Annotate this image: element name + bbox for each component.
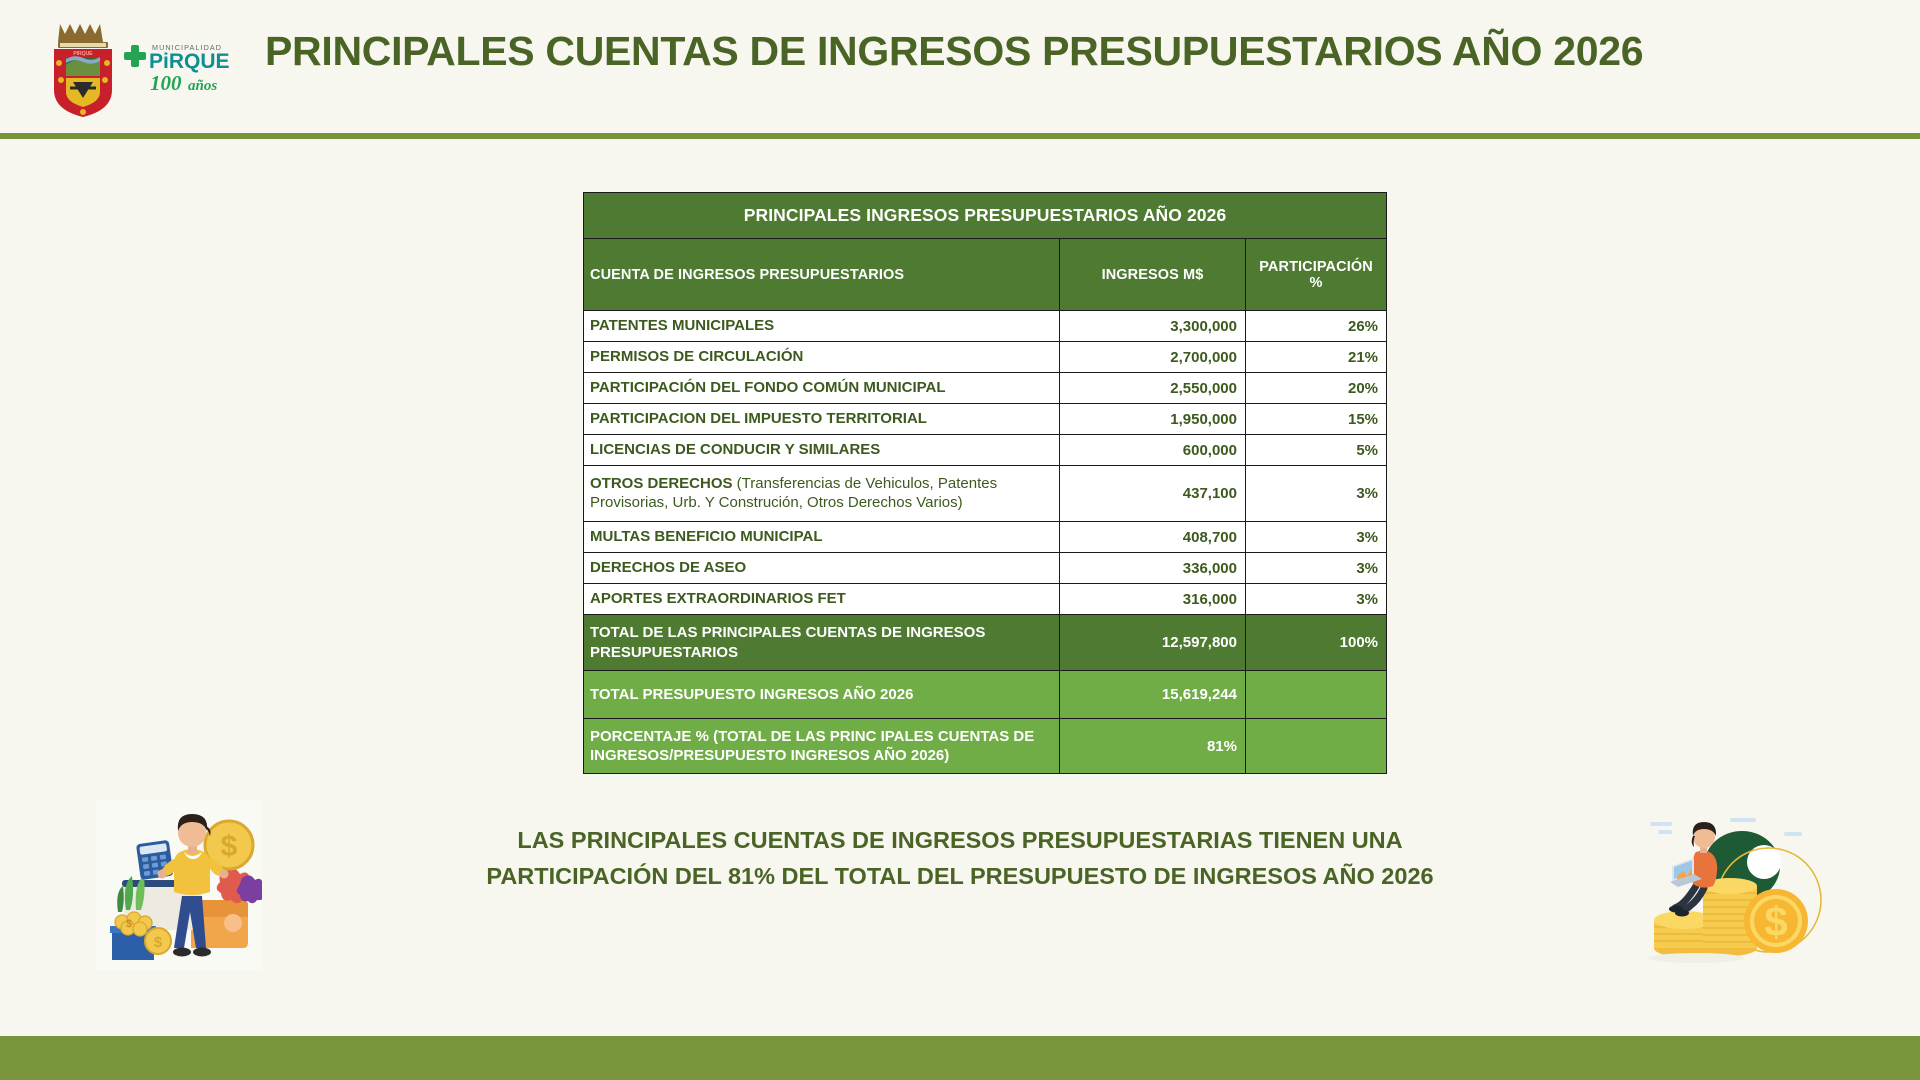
total-principales-name: TOTAL DE LAS PRINCIPALES CUENTAS DE INGR… xyxy=(584,615,1060,671)
row-name: MULTAS BENEFICIO MUNICIPAL xyxy=(584,522,1060,553)
row-participacion: 21% xyxy=(1246,342,1387,373)
row-ingresos: 2,700,000 xyxy=(1060,342,1246,373)
page-title: PRINCIPALES CUENTAS DE INGRESOS PRESUPUE… xyxy=(265,28,1865,75)
table-row: PERMISOS DE CIRCULACIÓN 2,700,000 21% xyxy=(584,342,1387,373)
row-participacion: 3% xyxy=(1246,466,1387,522)
table-row-total-presupuesto: TOTAL PRESUPUESTO INGRESOS AÑO 2026 15,6… xyxy=(584,671,1387,719)
row-name: OTROS DERECHOS (Transferencias de Vehicu… xyxy=(584,466,1060,522)
row-name: APORTES EXTRAORDINARIOS FET xyxy=(584,584,1060,615)
table-title: PRINCIPALES INGRESOS PRESUPUESTARIOS AÑO… xyxy=(584,193,1387,239)
row-participacion: 3% xyxy=(1246,553,1387,584)
svg-text:PiRQUE: PiRQUE xyxy=(149,50,230,73)
row-participacion: 3% xyxy=(1246,522,1387,553)
footer-bar xyxy=(0,1036,1920,1080)
row-name: PARTICIPACION DEL IMPUESTO TERRITORIAL xyxy=(584,404,1060,435)
row-ingresos: 316,000 xyxy=(1060,584,1246,615)
column-header-participacion-line1: PARTICIPACIÓN xyxy=(1250,259,1382,275)
row-participacion: 20% xyxy=(1246,373,1387,404)
porcentaje-name: PORCENTAJE % (TOTAL DE LAS PRINC IPALES … xyxy=(584,719,1060,774)
row-participacion: 3% xyxy=(1246,584,1387,615)
total-presupuesto-ingresos: 15,619,244 xyxy=(1060,671,1246,719)
table-row-total-principales: TOTAL DE LAS PRINCIPALES CUENTAS DE INGR… xyxy=(584,615,1387,671)
municipality-logo: PIRQUE MUNICIPALIDAD PiRQUE 100 años xyxy=(22,8,237,118)
row-name: PARTICIPACIÓN DEL FONDO COMÚN MUNICIPAL xyxy=(584,373,1060,404)
column-header-participacion: PARTICIPACIÓN % xyxy=(1246,239,1387,311)
table-row: PARTICIPACIÓN DEL FONDO COMÚN MUNICIPAL … xyxy=(584,373,1387,404)
table-row-porcentaje: PORCENTAJE % (TOTAL DE LAS PRINC IPALES … xyxy=(584,719,1387,774)
budget-table-container: PRINCIPALES INGRESOS PRESUPUESTARIOS AÑO… xyxy=(583,192,1386,774)
row-name: PATENTES MUNICIPALES xyxy=(584,311,1060,342)
total-presupuesto-participacion xyxy=(1246,671,1387,719)
svg-text:PIRQUE: PIRQUE xyxy=(73,51,93,57)
row-participacion: 26% xyxy=(1246,311,1387,342)
row-ingresos: 336,000 xyxy=(1060,553,1246,584)
table-row: APORTES EXTRAORDINARIOS FET 316,000 3% xyxy=(584,584,1387,615)
porcentaje-valor: 81% xyxy=(1060,719,1246,774)
header-divider xyxy=(0,133,1920,139)
person-on-coin-stacks-with-laptop-illustration: $ xyxy=(1634,808,1830,970)
person-with-calculator-coins-wallet-illustration: $ $ $ xyxy=(96,800,262,970)
table-row: PARTICIPACION DEL IMPUESTO TERRITORIAL 1… xyxy=(584,404,1387,435)
summary-caption: LAS PRINCIPALES CUENTAS DE INGRESOS PRES… xyxy=(360,822,1560,895)
svg-text:$: $ xyxy=(126,918,132,930)
row-ingresos: 437,100 xyxy=(1060,466,1246,522)
column-header-participacion-line2: % xyxy=(1250,275,1382,291)
svg-text:$: $ xyxy=(221,830,238,863)
row-name: DERECHOS DE ASEO xyxy=(584,553,1060,584)
page-header: PIRQUE MUNICIPALIDAD PiRQUE 100 años PRI… xyxy=(0,0,1920,137)
total-presupuesto-name: TOTAL PRESUPUESTO INGRESOS AÑO 2026 xyxy=(584,671,1060,719)
table-header-row: CUENTA DE INGRESOS PRESUPUESTARIOS INGRE… xyxy=(584,239,1387,311)
pirque-brand-wordmark: MUNICIPALIDAD PiRQUE 100 años xyxy=(122,34,237,114)
row-name-main: OTROS DERECHOS xyxy=(590,475,733,492)
row-ingresos: 408,700 xyxy=(1060,522,1246,553)
table-row: LICENCIAS DE CONDUCIR Y SIMILARES 600,00… xyxy=(584,435,1387,466)
svg-text:100: 100 xyxy=(150,71,182,95)
row-participacion: 5% xyxy=(1246,435,1387,466)
table-title-row: PRINCIPALES INGRESOS PRESUPUESTARIOS AÑO… xyxy=(584,193,1387,239)
column-header-cuenta: CUENTA DE INGRESOS PRESUPUESTARIOS xyxy=(584,239,1060,311)
row-ingresos: 3,300,000 xyxy=(1060,311,1246,342)
row-ingresos: 600,000 xyxy=(1060,435,1246,466)
table-row: PATENTES MUNICIPALES 3,300,000 26% xyxy=(584,311,1387,342)
total-principales-ingresos: 12,597,800 xyxy=(1060,615,1246,671)
porcentaje-participacion xyxy=(1246,719,1387,774)
total-principales-participacion: 100% xyxy=(1246,615,1387,671)
row-participacion: 15% xyxy=(1246,404,1387,435)
table-row: DERECHOS DE ASEO 336,000 3% xyxy=(584,553,1387,584)
budget-table: PRINCIPALES INGRESOS PRESUPUESTARIOS AÑO… xyxy=(583,192,1387,774)
summary-caption-line2: PARTICIPACIÓN DEL 81% DEL TOTAL DEL PRES… xyxy=(360,858,1560,894)
svg-text:$: $ xyxy=(154,934,163,951)
row-name: LICENCIAS DE CONDUCIR Y SIMILARES xyxy=(584,435,1060,466)
svg-text:años: años xyxy=(188,78,217,94)
pirque-crest-icon: PIRQUE xyxy=(44,18,122,118)
table-row: MULTAS BENEFICIO MUNICIPAL 408,700 3% xyxy=(584,522,1387,553)
column-header-ingresos: INGRESOS M$ xyxy=(1060,239,1246,311)
svg-text:$: $ xyxy=(1764,898,1787,945)
row-ingresos: 1,950,000 xyxy=(1060,404,1246,435)
row-name: PERMISOS DE CIRCULACIÓN xyxy=(584,342,1060,373)
row-ingresos: 2,550,000 xyxy=(1060,373,1246,404)
table-row: OTROS DERECHOS (Transferencias de Vehicu… xyxy=(584,466,1387,522)
summary-caption-line1: LAS PRINCIPALES CUENTAS DE INGRESOS PRES… xyxy=(360,822,1560,858)
